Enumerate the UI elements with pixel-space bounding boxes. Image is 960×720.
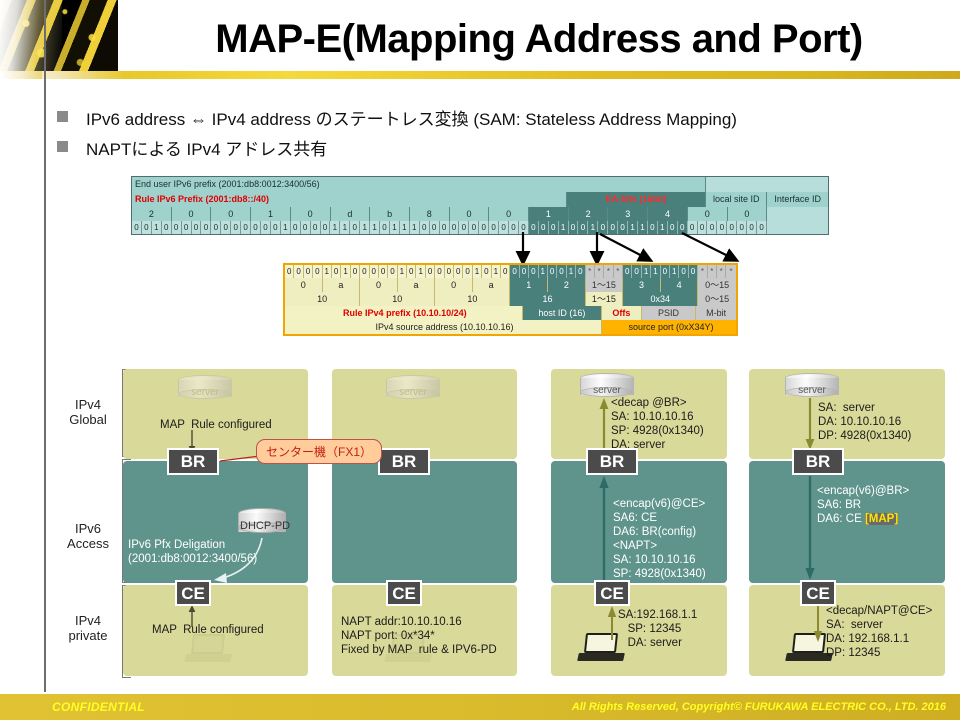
- layer-label-line1: IPv4: [58, 613, 118, 628]
- note-col1-top: MAP Rule configured: [160, 418, 272, 432]
- ipv4-bit-cell: 0: [304, 265, 313, 278]
- arrow-col4-bottom: [812, 606, 824, 642]
- ipv6-bit-cell: 0: [321, 221, 331, 234]
- logo-fade: [0, 0, 62, 78]
- arrow-col3-mid: [598, 476, 610, 580]
- ipv4-bit-cell: 0: [689, 265, 698, 278]
- arrow-col4-top: [804, 398, 816, 450]
- ipv6-bit-cell: 0: [231, 221, 241, 234]
- left-vertical-rule: [44, 0, 46, 692]
- ipv4-bit-cell: 1: [416, 265, 425, 278]
- server-icon-col1: server: [178, 375, 232, 401]
- ipv4-bit-table: 00001010000010100000101000010010****0011…: [283, 263, 738, 336]
- ipv4-bit-cell: 0: [520, 265, 529, 278]
- ipv4-hex-cell: a: [473, 278, 511, 292]
- ipv6-bit-cell: 1: [410, 221, 420, 234]
- node-br-col3[interactable]: BR: [586, 448, 638, 475]
- ipv6-hex-cell: d: [331, 207, 371, 221]
- node-ce-col1[interactable]: CE: [175, 580, 211, 606]
- dhcp-pd-label: DHCP-PD: [240, 519, 290, 533]
- map-highlight-badge: [MAP]: [865, 513, 898, 525]
- ipv4-bit-cell: 0: [557, 265, 566, 278]
- ipv4-hex-cell: 4: [661, 278, 699, 292]
- ipv4-bit-cell: 1: [539, 265, 548, 278]
- ipv6-bit-cell: 0: [261, 221, 271, 234]
- node-br-col1[interactable]: BR: [167, 448, 219, 475]
- ipv4-bit-cell: 0: [426, 265, 435, 278]
- ipv6-bit-cell: 0: [221, 221, 231, 234]
- ipv4-decimal-cell: 1～15: [586, 292, 624, 306]
- layer-label-line1: IPv6: [58, 521, 118, 536]
- ipv4-hex-cell: 0: [360, 278, 398, 292]
- psid-label: PSID: [642, 306, 697, 320]
- ipv6-hex-cell: 4: [648, 207, 688, 221]
- mbit-label: M-bit: [696, 306, 736, 320]
- note-col2-bottom: NAPT addr:10.10.10.16 NAPT port: 0x*34* …: [341, 615, 497, 657]
- ipv6-bit-cell: 0: [172, 221, 182, 234]
- ipv4-bit-cell: *: [717, 265, 726, 278]
- note-col4-mid: <encap(v6)@BR> SA6: BR DA6: CE [MAP]: [817, 484, 909, 526]
- ipv6-bit-cell: 1: [370, 221, 380, 234]
- laptop-icon-col1: [185, 634, 231, 664]
- ipv4-bit-cell: 0: [661, 265, 670, 278]
- ipv6-bit-cell: 0: [142, 221, 152, 234]
- ipv4-bit-cell: 1: [323, 265, 332, 278]
- ipv6-bit-cell: 0: [301, 221, 311, 234]
- ipv6-bit-cell: 0: [182, 221, 192, 234]
- note-col4-top: SA: server DA: 10.10.10.16 DP: 4928(0x13…: [818, 401, 911, 443]
- ipv6-hex-cell: 0: [211, 207, 251, 221]
- ipv4-bit-cell: *: [604, 265, 613, 278]
- ipv6-bit-cell: 0: [420, 221, 430, 234]
- ipv6-bit-cell: 0: [201, 221, 211, 234]
- ipv4-bit-cell: 0: [407, 265, 416, 278]
- ipv6-hex-blank: [767, 207, 828, 221]
- ipv6-hex-cell: 1: [251, 207, 291, 221]
- ipv4-decimal-cell: 0～15: [698, 292, 736, 306]
- enduser-blank-cell: [706, 177, 828, 192]
- server-icon-col4: server: [785, 373, 839, 399]
- ipv6-hex-cell: 2: [132, 207, 172, 221]
- ipv6-hex-cell: 0: [688, 207, 728, 221]
- ipv4-bit-cell: 1: [398, 265, 407, 278]
- rule-ipv6-prefix-label: Rule IPv6 Prefix (2001:db8::/40): [132, 192, 567, 207]
- ipv6-bit-cell: 1: [340, 221, 350, 234]
- ipv4-bit-cell: 0: [548, 265, 557, 278]
- ipv4-bit-cell: 0: [388, 265, 397, 278]
- ipv6-bit-cell: 0: [132, 221, 142, 234]
- ipv6-bit-cell: 1: [390, 221, 400, 234]
- ipv4-bit-cell: 0: [379, 265, 388, 278]
- ipv6-bit-cell: 0: [440, 221, 450, 234]
- end-user-prefix-label: End user IPv6 prefix (2001:db8:0012:3400…: [132, 177, 706, 192]
- ipv4-row-hex: 0a0a0a121～15340～15: [285, 278, 736, 292]
- layer-label-line2: Global: [58, 412, 118, 427]
- note-col1-bottom: MAP Rule configured: [152, 623, 264, 637]
- ipv6-bit-cell: 1: [400, 221, 410, 234]
- ipv4-bit-cell: 0: [482, 265, 491, 278]
- ipv4-bit-cell: 1: [492, 265, 501, 278]
- ipv4-bit-cell: 0: [445, 265, 454, 278]
- ipv6-bit-cell: 1: [281, 221, 291, 234]
- note-col4-bottom: <decap/NAPT@CE> SA: server DA: 192.168.1…: [826, 604, 932, 660]
- ipv4-row-bits: 00001010000010100000101000010010****0011…: [285, 265, 736, 278]
- ipv6-bit-cell: 0: [211, 221, 221, 234]
- arrow-col4-mid: [804, 476, 816, 580]
- ipv4-hex-cell: 0: [285, 278, 323, 292]
- ipv4-source-address-label: IPv4 source address (10.10.10.16): [285, 320, 602, 334]
- offs-label: Offs: [602, 306, 642, 320]
- ipv6-bit-cell: 0: [241, 221, 251, 234]
- ipv4-decimal-cell: 0x34: [623, 292, 698, 306]
- ipv6-bit-cell: 0: [450, 221, 460, 234]
- layer-label-line2: private: [58, 628, 118, 643]
- ipv4-decimal-cell: 10: [360, 292, 435, 306]
- ipv4-bit-cell: 0: [529, 265, 538, 278]
- header-gold-bar-cap: [0, 71, 42, 79]
- ipv6-bit-cell: 0: [380, 221, 390, 234]
- ipv4-bit-cell: 0: [332, 265, 341, 278]
- ipv4-bit-cell: 0: [679, 265, 688, 278]
- bullet-text-2: NAPTによる IPv4 アドレス共有: [86, 135, 327, 160]
- node-br-col2[interactable]: BR: [378, 448, 430, 475]
- ipv6-bit-cell: 0: [162, 221, 172, 234]
- ipv6-hex-cell: 1: [529, 207, 569, 221]
- ipv4-bit-cell: *: [708, 265, 717, 278]
- ipv6-bit-cell: 0: [271, 221, 281, 234]
- callout-center-device: センター機（FX1）: [256, 439, 382, 464]
- ipv4-bit-cell: 0: [501, 265, 510, 278]
- ipv4-bit-cell: *: [726, 265, 735, 278]
- ipv4-row-decimal: 101010161～150x340～15: [285, 292, 736, 306]
- node-ce-col2[interactable]: CE: [386, 580, 422, 606]
- ipv4-hex-cell: 0～15: [698, 278, 736, 292]
- ipv6-hex-cell: 2: [569, 207, 609, 221]
- ipv4-bit-cell: 0: [313, 265, 322, 278]
- ipv6-hex-cell: 0: [291, 207, 331, 221]
- server-label: server: [386, 387, 440, 401]
- bullet-item-2: NAPTによる IPv4 アドレス共有: [57, 135, 327, 160]
- layer-label-ipv6-access: IPv6 Access: [58, 521, 118, 551]
- node-ce-col4[interactable]: CE: [800, 580, 836, 606]
- note-col3-mid: <encap(v6)@CE> SA6: CE DA6: BR(config) <…: [613, 497, 706, 581]
- ipv4-hex-cell: 0: [435, 278, 473, 292]
- ipv4-row-summary: IPv4 source address (10.10.10.16) source…: [285, 320, 736, 334]
- ipv4-bit-cell: 0: [435, 265, 444, 278]
- ipv4-bit-cell: *: [595, 265, 604, 278]
- ipv4-bit-cell: 0: [360, 265, 369, 278]
- ipv4-bit-cell: 1: [473, 265, 482, 278]
- ipv4-bit-cell: 0: [463, 265, 472, 278]
- ipv6-bit-table: End user IPv6 prefix (2001:db8:0012:3400…: [131, 176, 829, 235]
- ipv6-row-rule: Rule IPv6 Prefix (2001:db8::/40) EA-bits…: [132, 192, 828, 207]
- server-icon-col2: server: [386, 375, 440, 401]
- bullet-square-icon: [57, 111, 68, 122]
- company-logo: [0, 0, 118, 78]
- arrow-col3-bottom: [606, 606, 618, 640]
- ipv4-hex-cell: 1～15: [586, 278, 624, 292]
- ipv6-bit-cell: 0: [430, 221, 440, 234]
- ipv4-hex-cell: a: [323, 278, 361, 292]
- ipv6-hex-cell: 0: [172, 207, 212, 221]
- callout-leader-line: [214, 450, 262, 468]
- ipv4-bit-cell: *: [586, 265, 595, 278]
- ipv4-bit-cell: *: [698, 265, 707, 278]
- ipv6-hex-cell: b: [370, 207, 410, 221]
- panel-ipv6-access-col2: [332, 461, 517, 583]
- confidential-label: CONFIDENTIAL: [52, 700, 145, 714]
- ipv4-bit-cell: *: [614, 265, 623, 278]
- ipv6-bit-cell: 0: [350, 221, 360, 234]
- ipv4-decimal-cell: 10: [285, 292, 360, 306]
- ipv6-hex-cell: 0: [450, 207, 490, 221]
- layer-label-line1: IPv4: [58, 397, 118, 412]
- ipv4-hex-cell: 2: [548, 278, 586, 292]
- note-col3-bottom: SA:192.168.1.1 SP: 12345 DA: server: [618, 608, 697, 650]
- ipv6-hex-cell: 8: [410, 207, 450, 221]
- ipv4-bit-cell: 1: [341, 265, 350, 278]
- ipv4-bit-cell: 0: [294, 265, 303, 278]
- ipv4-bit-cell: 0: [370, 265, 379, 278]
- ipv4-bit-cell: 0: [510, 265, 519, 278]
- ipv6-bit-cell: 0: [459, 221, 469, 234]
- ipv4-decimal-cell: 10: [435, 292, 510, 306]
- ea-bits-label: EA-bits (16bit): [567, 192, 706, 207]
- local-site-id-label: local site ID: [706, 192, 767, 207]
- ipv4-bit-cell: 0: [623, 265, 632, 278]
- ipv6-row-hex: 20010db800123400: [132, 207, 828, 221]
- note-col3-top: <decap @BR> SA: 10.10.10.16 SP: 4928(0x1…: [611, 396, 704, 452]
- ipv4-hex-cell: a: [398, 278, 436, 292]
- ipv6-row-enduser: End user IPv6 prefix (2001:db8:0012:3400…: [132, 177, 828, 192]
- ipv4-bit-cell: 0: [454, 265, 463, 278]
- ipv6-bit-cell: 0: [311, 221, 321, 234]
- interface-id-label: Interface ID: [767, 192, 828, 207]
- ipv6-bit-cell: 0: [291, 221, 301, 234]
- node-ce-col3[interactable]: CE: [594, 580, 630, 606]
- ipv6-hex-cell: 3: [608, 207, 648, 221]
- ipv4-bit-cell: 1: [651, 265, 660, 278]
- ipv6-hex-cell: 0: [489, 207, 529, 221]
- rule-ipv4-prefix-label: Rule IPv4 prefix (10.10.10/24): [285, 306, 523, 320]
- ipv6-bit-cell: 0: [192, 221, 202, 234]
- ipv4-bit-cell: 1: [642, 265, 651, 278]
- ipv6-bit-cell: 1: [152, 221, 162, 234]
- bullet-text-1: IPv6 address ⇔ IPv4 address のステートレス変換 (S…: [86, 105, 737, 130]
- source-port-label: source port (0xX34Y): [602, 320, 736, 334]
- server-label: server: [178, 387, 232, 401]
- host-id-label: host ID (16): [523, 306, 602, 320]
- arrow-col3-top: [598, 398, 610, 450]
- ipv4-bit-cell: 0: [285, 265, 294, 278]
- ipv4-decimal-cell: 16: [510, 292, 585, 306]
- ipv4-hex-cell: 3: [623, 278, 661, 292]
- ipv4-bit-cell: 1: [670, 265, 679, 278]
- header-gold-bar: [0, 71, 960, 79]
- bullet-item-1: IPv6 address ⇔ IPv4 address のステートレス変換 (S…: [57, 105, 737, 130]
- ipv4-bit-cell: 0: [351, 265, 360, 278]
- bullet-square-icon: [57, 141, 68, 152]
- node-br-col4[interactable]: BR: [792, 448, 844, 475]
- ipv6-hex-cell: 0: [728, 207, 768, 221]
- server-label: server: [785, 385, 839, 399]
- copyright-label: All Rights Reserved, Copyright© FURUKAWA…: [572, 701, 946, 713]
- page-title: MAP-E(Mapping Address and Port): [118, 8, 960, 70]
- layer-label-line2: Access: [58, 536, 118, 551]
- ipv4-bit-cell: 0: [576, 265, 585, 278]
- ipv6-bit-cell: 0: [251, 221, 261, 234]
- layer-label-ipv4-global: IPv4 Global: [58, 397, 118, 427]
- ipv4-bit-cell: 1: [567, 265, 576, 278]
- ipv6-bit-cell: 1: [360, 221, 370, 234]
- ipv4-row-fieldnames: Rule IPv4 prefix (10.10.10/24) host ID (…: [285, 306, 736, 320]
- ipv6-bit-cell: 1: [330, 221, 340, 234]
- ipv4-bit-cell: 0: [632, 265, 641, 278]
- ipv4-hex-cell: 1: [510, 278, 548, 292]
- layer-label-ipv4-private: IPv4 private: [58, 613, 118, 643]
